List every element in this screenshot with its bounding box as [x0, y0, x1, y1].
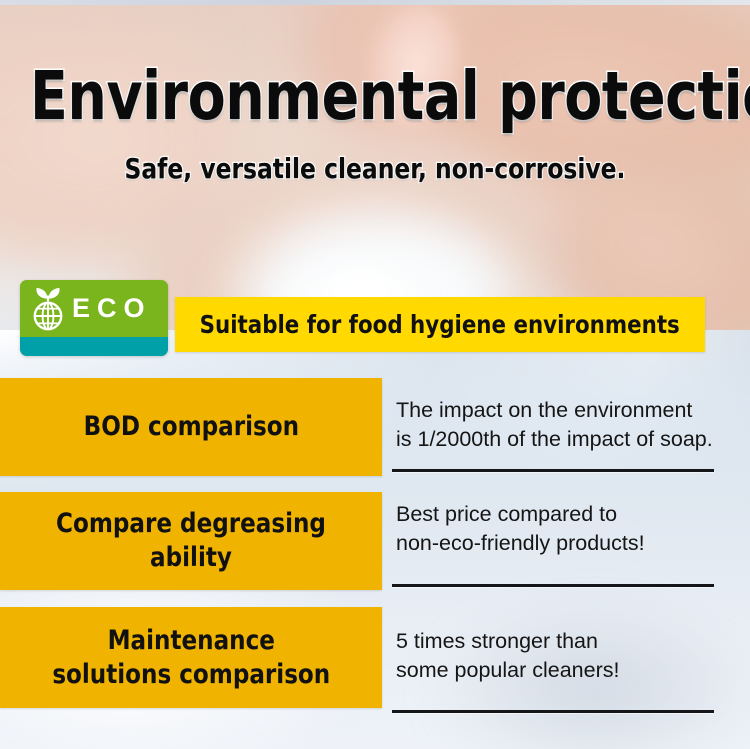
comparison-divider: [392, 469, 714, 472]
comparison-divider: [392, 710, 714, 713]
comparison-label-box: Compare degreasing ability: [0, 492, 382, 590]
comparison-description: Best price compared to non-eco-friendly …: [396, 500, 720, 558]
comparison-description: 5 times stronger than some popular clean…: [396, 627, 720, 685]
comparison-label-box: BOD comparison: [0, 378, 382, 476]
comparison-label-box: Maintenance solutions comparison: [0, 607, 382, 708]
comparison-label-text: Maintenance solutions comparison: [46, 624, 335, 692]
eco-cleaner-poster: Environmental protection Safe, versatile…: [0, 0, 750, 749]
comparison-label-text: BOD comparison: [78, 410, 305, 444]
comparison-divider: [392, 584, 714, 587]
comparison-description: The impact on the environment is 1/2000t…: [396, 396, 720, 454]
comparison-list: BOD comparison The impact on the environ…: [0, 0, 750, 749]
comparison-label-text: Compare degreasing ability: [10, 507, 373, 575]
